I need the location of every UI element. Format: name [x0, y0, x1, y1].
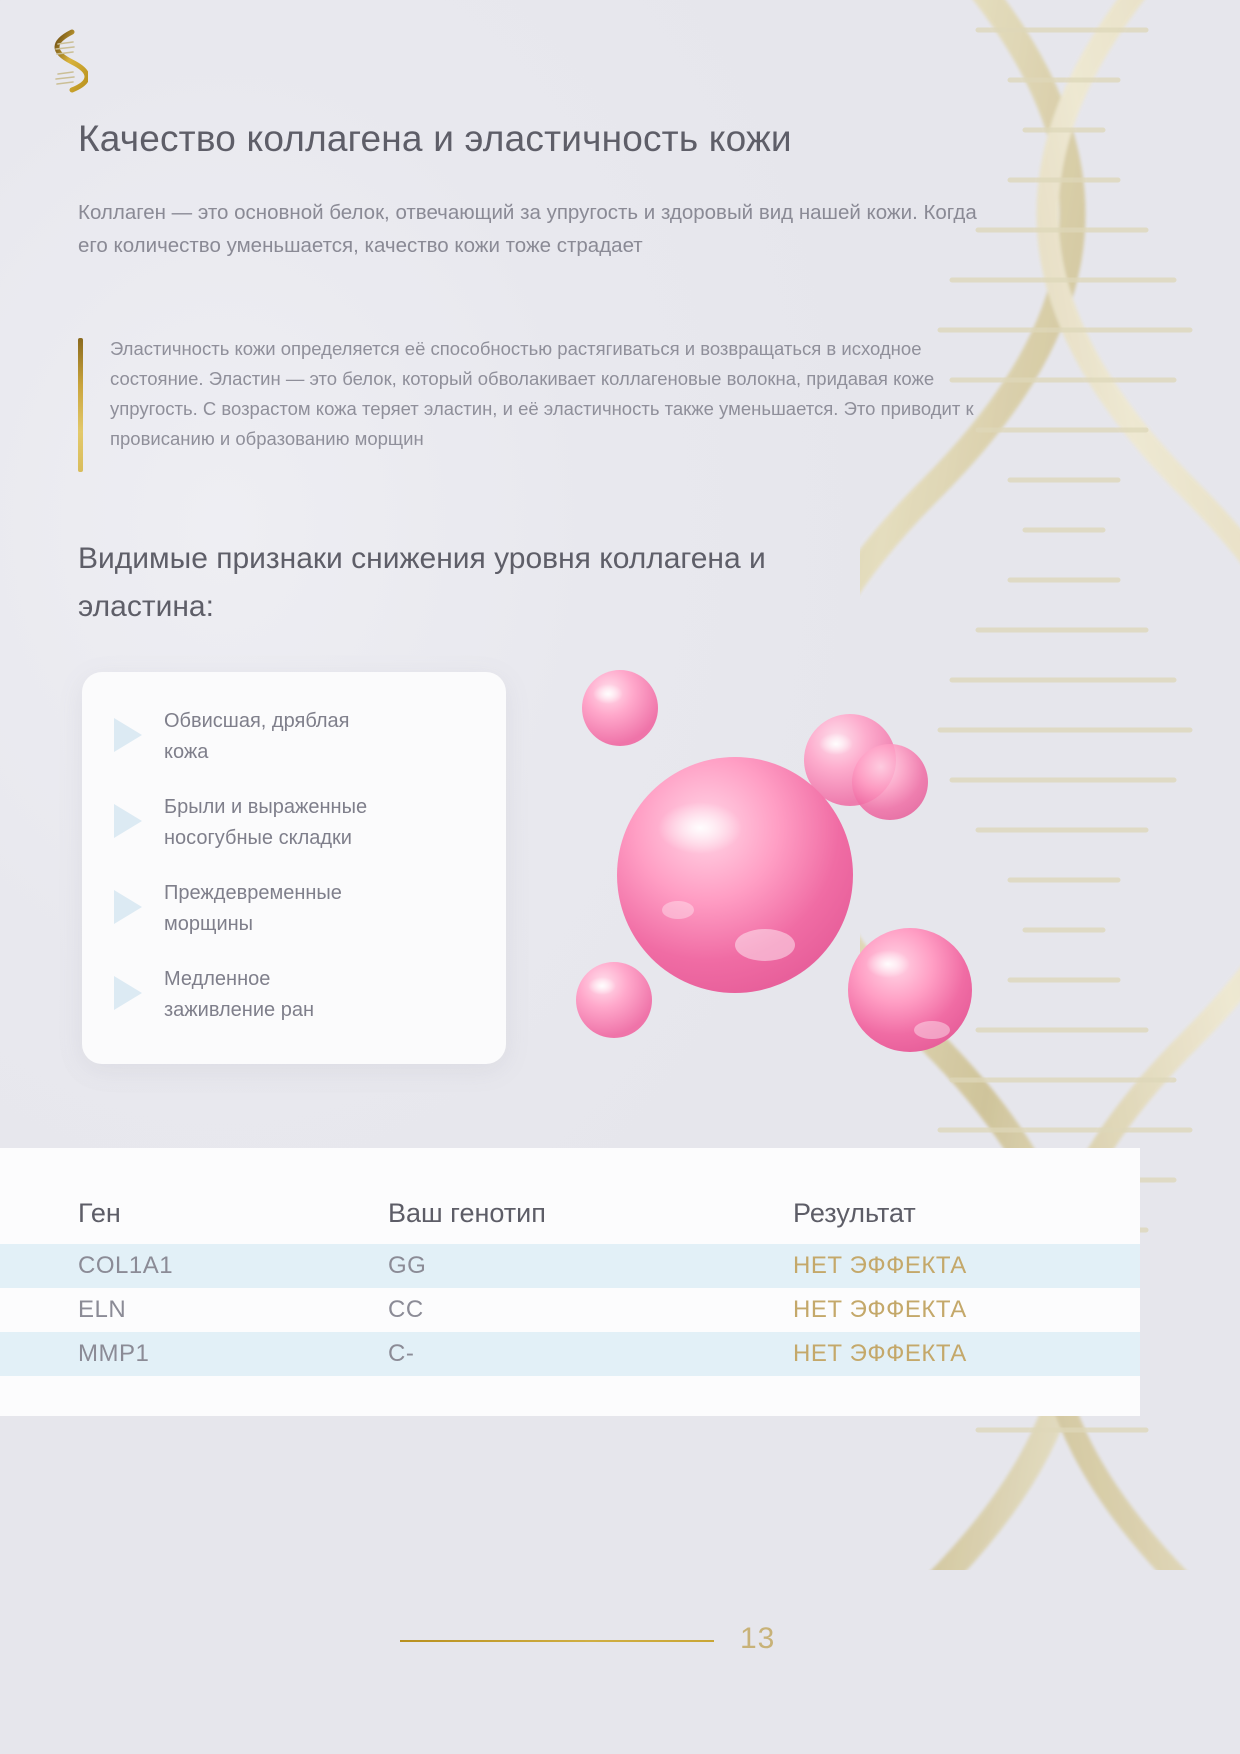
page-footer: 13	[0, 1622, 1240, 1662]
cell-result: НЕТ ЭФФЕКТА	[793, 1296, 1123, 1324]
genotype-results-table: Ген Ваш генотип Результат COL1A1 GG НЕТ …	[0, 1148, 1140, 1416]
callout-accent-bar	[78, 338, 83, 472]
list-item-label: Преждевременные морщины	[164, 878, 342, 940]
list-item-label: Брыли и выраженные носогубные складки	[164, 792, 367, 854]
column-header-result: Результат	[793, 1198, 1123, 1229]
cell-genotype: C-	[388, 1340, 793, 1368]
column-header-gene: Ген	[78, 1198, 388, 1229]
table-row: ELN CC НЕТ ЭФФЕКТА	[0, 1288, 1140, 1332]
table-row: COL1A1 GG НЕТ ЭФФЕКТА	[0, 1244, 1140, 1288]
cell-result: НЕТ ЭФФЕКТА	[793, 1252, 1123, 1280]
triangle-right-icon	[114, 976, 142, 1010]
list-item-label: Медленное заживление ран	[164, 964, 314, 1026]
cell-result: НЕТ ЭФФЕКТА	[793, 1340, 1123, 1368]
callout-block: Эластичность кожи определяется её способ…	[78, 334, 978, 454]
signs-card: Обвисшая, дряблая кожа Брыли и выраженны…	[82, 672, 506, 1064]
footer-divider	[400, 1640, 714, 1642]
page-canvas: Качество коллагена и эластичность кожи К…	[0, 0, 1240, 1754]
list-item: Преждевременные морщины	[104, 878, 480, 940]
list-item: Брыли и выраженные носогубные складки	[104, 792, 480, 854]
column-header-genotype: Ваш генотип	[388, 1198, 793, 1229]
page-content: Качество коллагена и эластичность кожи К…	[0, 0, 1240, 1754]
section-title-signs: Видимые признаки снижения уровня коллаге…	[78, 535, 898, 631]
cell-gene: MMP1	[78, 1340, 388, 1368]
triangle-right-icon	[114, 718, 142, 752]
cell-gene: ELN	[78, 1296, 388, 1324]
list-item: Обвисшая, дряблая кожа	[104, 706, 480, 768]
intro-paragraph: Коллаген — это основной белок, отвечающи…	[78, 196, 978, 262]
table-row: MMP1 C- НЕТ ЭФФЕКТА	[0, 1332, 1140, 1376]
cell-genotype: CC	[388, 1296, 793, 1324]
list-item-label: Обвисшая, дряблая кожа	[164, 706, 350, 768]
page-title: Качество коллагена и эластичность кожи	[78, 118, 792, 160]
triangle-right-icon	[114, 804, 142, 838]
list-item: Медленное заживление ран	[104, 964, 480, 1026]
cell-gene: COL1A1	[78, 1252, 388, 1280]
cell-genotype: GG	[388, 1252, 793, 1280]
table-header-row: Ген Ваш генотип Результат	[0, 1182, 1140, 1244]
callout-text: Эластичность кожи определяется её способ…	[110, 338, 974, 449]
page-number: 13	[740, 1622, 775, 1656]
triangle-right-icon	[114, 890, 142, 924]
